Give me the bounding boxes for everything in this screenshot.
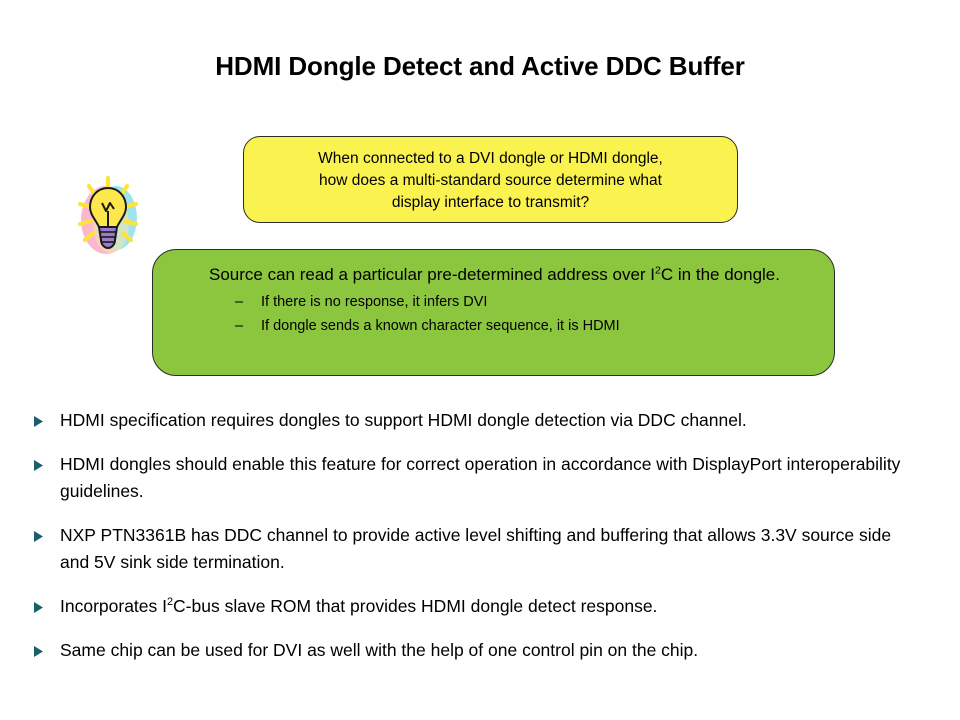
answer-sub-bullet-list: – If there is no response, it infers DVI… (153, 291, 834, 337)
triangle-bullet-icon (34, 451, 60, 471)
answer-lead-part2: C in the dongle. (661, 265, 780, 284)
question-callout: When connected to a DVI dongle or HDMI d… (243, 136, 738, 223)
dash-marker: – (235, 291, 261, 313)
list-item: Same chip can be used for DVI as well wi… (34, 637, 930, 664)
slide-canvas: HDMI Dongle Detect and Active DDC Buffer (0, 0, 960, 720)
triangle-bullet-icon (34, 593, 60, 613)
main-bullet-list: HDMI specification requires dongles to s… (34, 407, 930, 681)
list-item-label: Same chip can be used for DVI as well wi… (60, 637, 930, 664)
list-item: NXP PTN3361B has DDC channel to provide … (34, 522, 930, 576)
answer-lead-text: Source can read a particular pre-determi… (209, 262, 809, 287)
list-item: HDMI dongles should enable this feature … (34, 451, 930, 505)
list-item: Incorporates I2C-bus slave ROM that prov… (34, 593, 930, 620)
list-item-label: HDMI dongles should enable this feature … (60, 451, 930, 505)
list-item: HDMI specification requires dongles to s… (34, 407, 930, 434)
answer-sub-bullet: – If dongle sends a known character sequ… (235, 315, 834, 337)
answer-sub-bullet: – If there is no response, it infers DVI (235, 291, 834, 313)
triangle-bullet-icon (34, 522, 60, 542)
list-item-label: Incorporates I2C-bus slave ROM that prov… (60, 593, 930, 620)
list-item-label-post: C-bus slave ROM that provides HDMI dongl… (173, 596, 657, 616)
answer-sub-bullet-label: If dongle sends a known character sequen… (261, 315, 620, 337)
dash-marker: – (235, 315, 261, 337)
answer-sub-bullet-label: If there is no response, it infers DVI (261, 291, 487, 313)
question-line-3: display interface to transmit? (244, 192, 737, 214)
question-line-2: how does a multi-standard source determi… (244, 170, 737, 192)
triangle-bullet-icon (34, 637, 60, 657)
lightbulb-icon (66, 168, 150, 264)
list-item-label: NXP PTN3361B has DDC channel to provide … (60, 522, 930, 576)
triangle-bullet-icon (34, 407, 60, 427)
answer-callout: Source can read a particular pre-determi… (152, 249, 835, 376)
list-item-label: HDMI specification requires dongles to s… (60, 407, 930, 434)
page-title: HDMI Dongle Detect and Active DDC Buffer (0, 52, 960, 81)
question-line-1: When connected to a DVI dongle or HDMI d… (244, 148, 737, 170)
list-item-label-pre: Incorporates I (60, 596, 167, 616)
answer-lead-part1: Source can read a particular pre-determi… (209, 265, 650, 284)
